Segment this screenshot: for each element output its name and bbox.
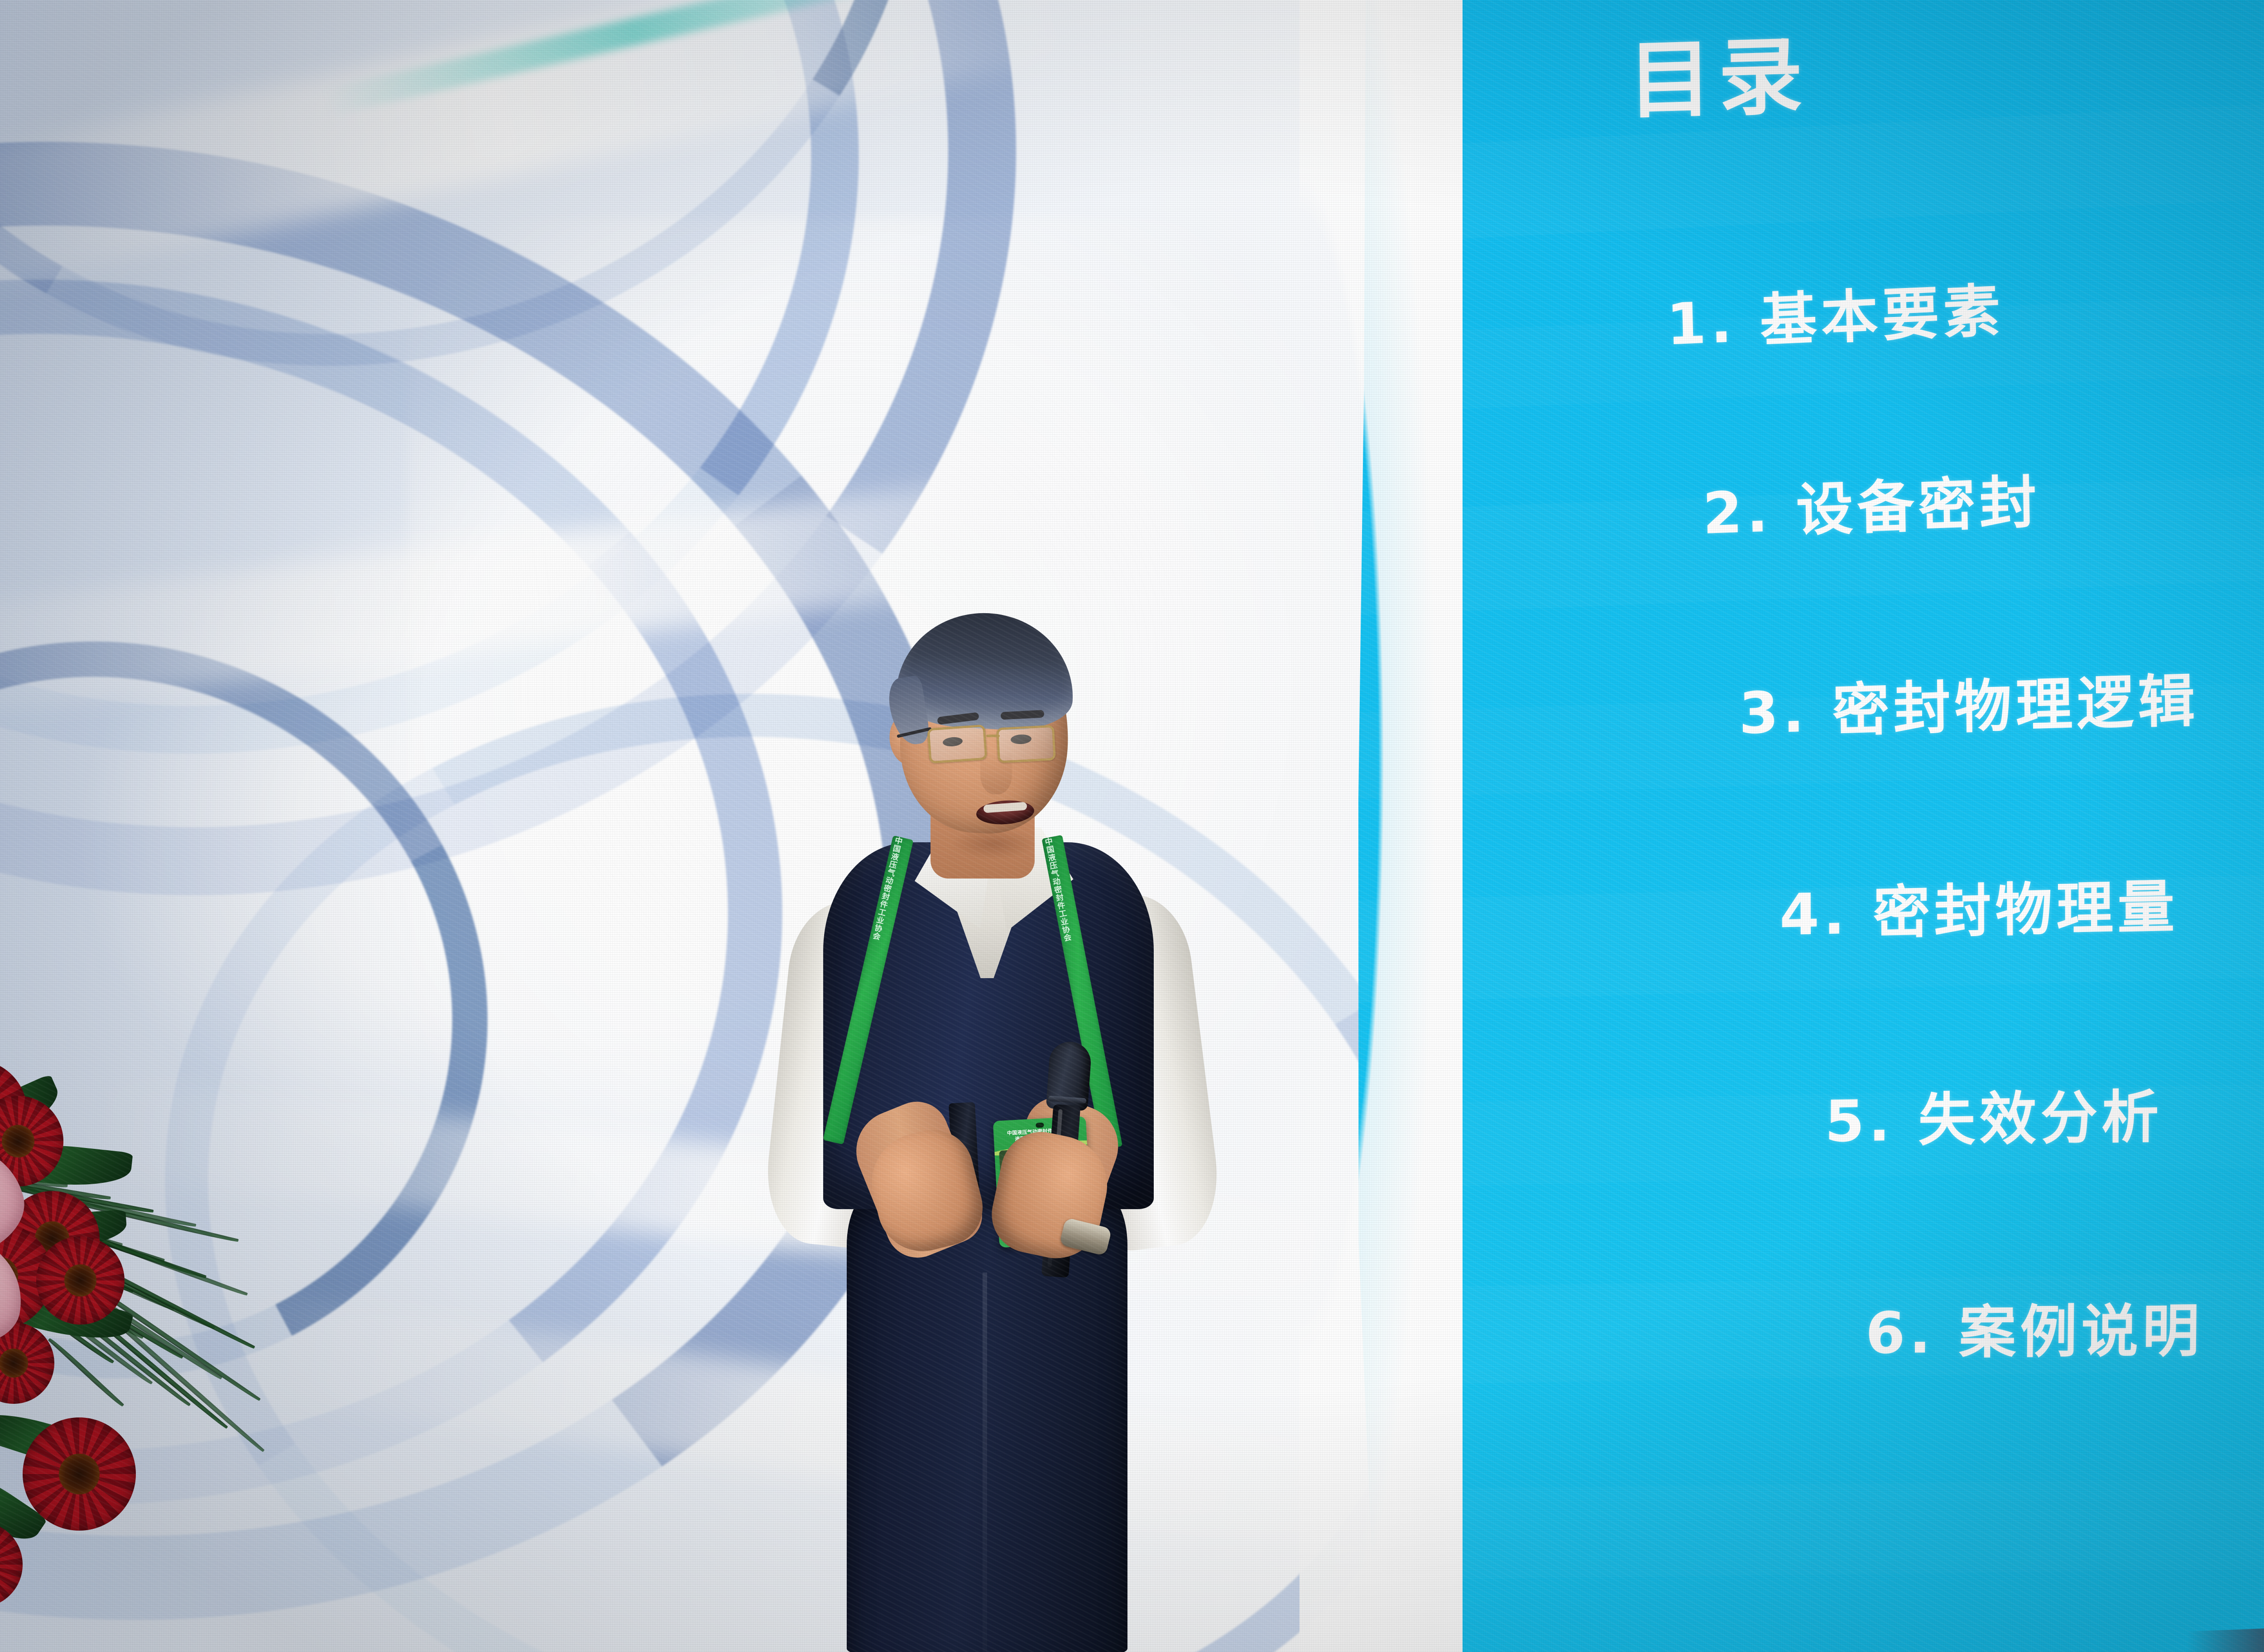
badge-hole [1036, 1123, 1044, 1128]
flower-gerbera [0, 1322, 54, 1404]
agenda-item-label: 密封物理逻辑 [1832, 668, 2199, 744]
slide-agenda-item-3: 3. 密封物理逻辑 [1738, 655, 2199, 750]
agenda-item-number: 4. [1780, 880, 1873, 948]
slide-agenda-item-1: 1. 基本要素 [1665, 264, 2005, 361]
slide-agenda-item-6: 6. 案例说明 [1865, 1285, 2204, 1369]
agenda-item-number: 1. [1666, 288, 1761, 358]
speaker-figure: 中国液压气动密封件工业协会 中国液压气动密封件工业协会 中国液压气动密封件工业协… [724, 648, 1250, 1652]
nose [980, 751, 1012, 794]
slide-contents-panel [1327, 0, 2264, 1652]
slide-title: 目录 [1627, 7, 1810, 134]
flower-arrangement [0, 1042, 272, 1652]
eyeglasses-bridge [986, 735, 1000, 737]
agenda-item-number: 5. [1825, 1087, 1919, 1155]
agenda-item-number: 2. [1702, 477, 1797, 547]
agenda-item-label: 失效分析 [1918, 1084, 2163, 1154]
agenda-item-number: 3. [1739, 677, 1833, 747]
conference-stage-photo: 目录 1. 基本要素2. 设备密封3. 密封物理逻辑4. 密封物理量5. 失效分… [0, 0, 2264, 1652]
slide-agenda-item-5: 5. 失效分析 [1825, 1071, 2163, 1158]
flower-gerbera [23, 1417, 136, 1531]
eyeglass-lens-left [927, 725, 987, 764]
agenda-item-number: 6. [1865, 1299, 1959, 1366]
slide-agenda-item-4: 4. 密封物理量 [1780, 861, 2179, 951]
agenda-item-label: 基本要素 [1759, 277, 2005, 354]
agenda-item-label: 密封物理量 [1873, 874, 2178, 946]
slide-agenda-item-2: 2. 设备密封 [1702, 456, 2041, 550]
flower-gerbera [36, 1236, 125, 1325]
agenda-item-label: 案例说明 [1959, 1297, 2204, 1366]
chin-shadow [951, 828, 1037, 860]
trousers [847, 1191, 1127, 1652]
agenda-item-label: 设备密封 [1795, 469, 2041, 544]
